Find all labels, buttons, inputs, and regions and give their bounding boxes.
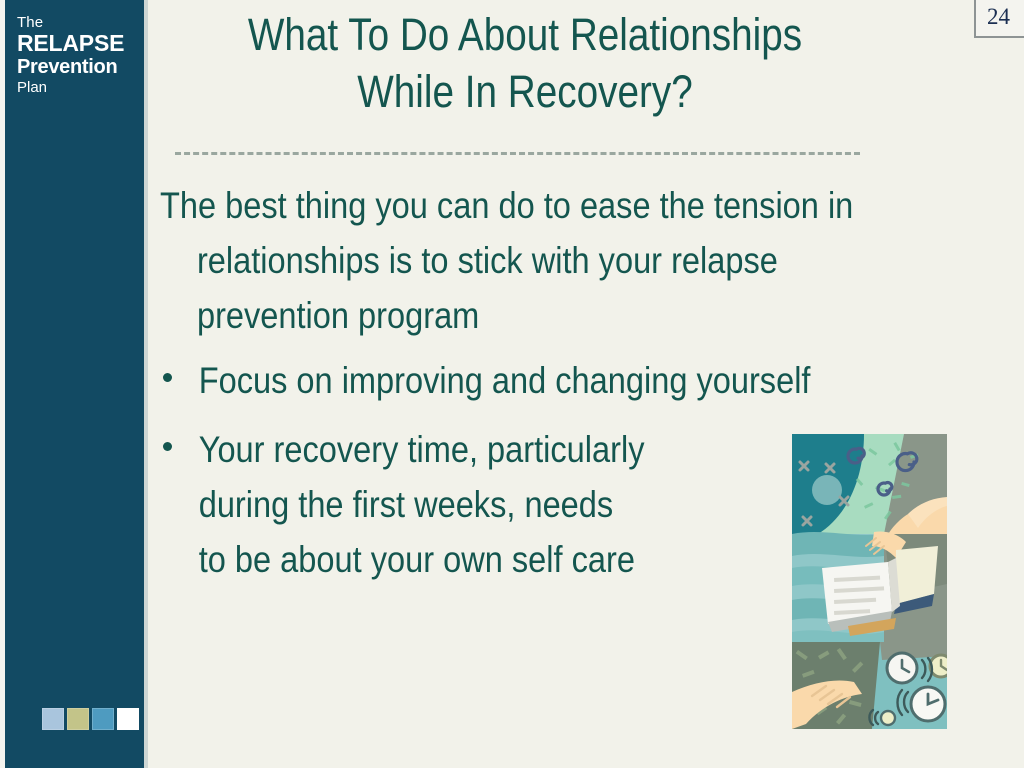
intro-paragraph: The best thing you can do to ease the te… [160,178,882,343]
swatch-khaki [67,708,89,730]
bullet-2-line-3: to be about your own self care [199,532,882,587]
slide-number: 24 [987,4,1010,30]
swatch-blue [92,708,114,730]
slide-canvas: The RELAPSE Prevention Plan What To Do A… [0,0,1024,768]
swatch-white [117,708,139,730]
intro-line-1: The best thing you can do to ease the te… [160,178,882,233]
bullet-2-line-1: Your recovery time, particularly [199,422,882,477]
logo-line-prevention: Prevention [17,56,145,79]
title-divider [175,152,860,155]
slide-number-box: 24 [974,0,1024,38]
page-title: What To Do About Relationships While In … [211,6,839,120]
sidebar-divider [144,0,148,768]
logo-line-the: The [17,14,145,31]
collage-illustration [792,434,947,736]
logo-line-relapse: RELAPSE [17,31,145,56]
bullet-1-line-1: Focus on improving and changing yourself [199,353,882,408]
title-line-1: What To Do About Relationships [211,6,839,63]
title-line-2: While In Recovery? [211,63,839,120]
bullet-2-line-2: during the first weeks, needs [199,477,882,532]
intro-line-2: relationships is to stick with your rela… [160,233,882,288]
color-swatch-row [42,708,139,730]
bullet-2-text: Your recovery time, particularly during … [160,422,882,587]
bullet-1-text: Focus on improving and changing yourself [160,353,882,408]
sidebar: The RELAPSE Prevention Plan [5,0,144,768]
slide-left-edge [0,0,5,768]
swatch-light-blue [42,708,64,730]
intro-line-3: prevention program [160,288,882,343]
list-item: Focus on improving and changing yourself [160,353,980,408]
logo-line-plan: Plan [17,79,145,97]
brand-logo: The RELAPSE Prevention Plan [17,14,145,97]
